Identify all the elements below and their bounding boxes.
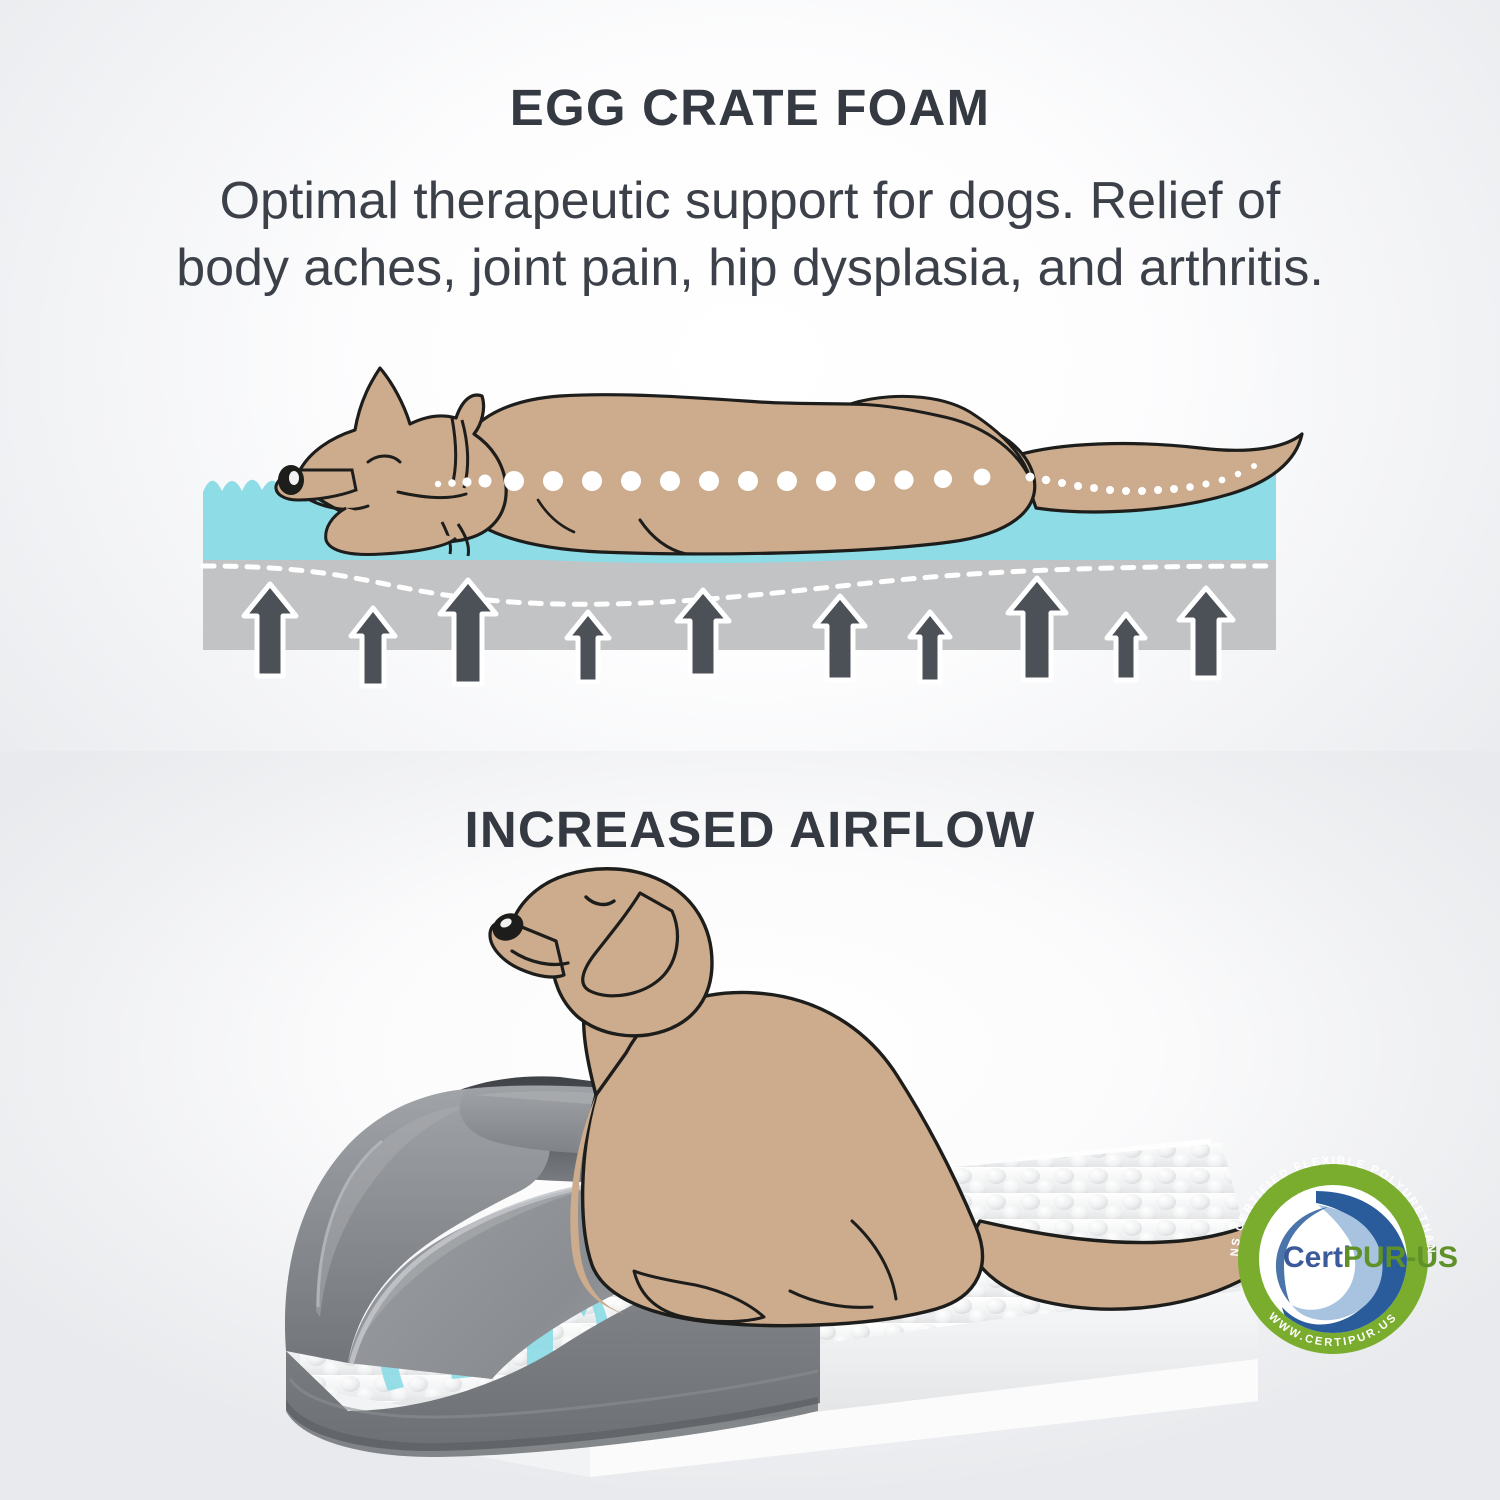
dog-illustration-sitting [488, 869, 1322, 1326]
panel-increased-airflow: INCREASED AIRFLOW [0, 751, 1500, 1500]
panel-egg-crate-foam: EGG CRATE FOAM Optimal therapeutic suppo… [0, 0, 1500, 751]
dog-spine-dots [435, 469, 991, 491]
infographic-page: EGG CRATE FOAM Optimal therapeutic suppo… [0, 0, 1500, 1500]
illustration-dog-on-foam [0, 0, 1500, 751]
illustration-dog-on-bed [0, 751, 1500, 1500]
